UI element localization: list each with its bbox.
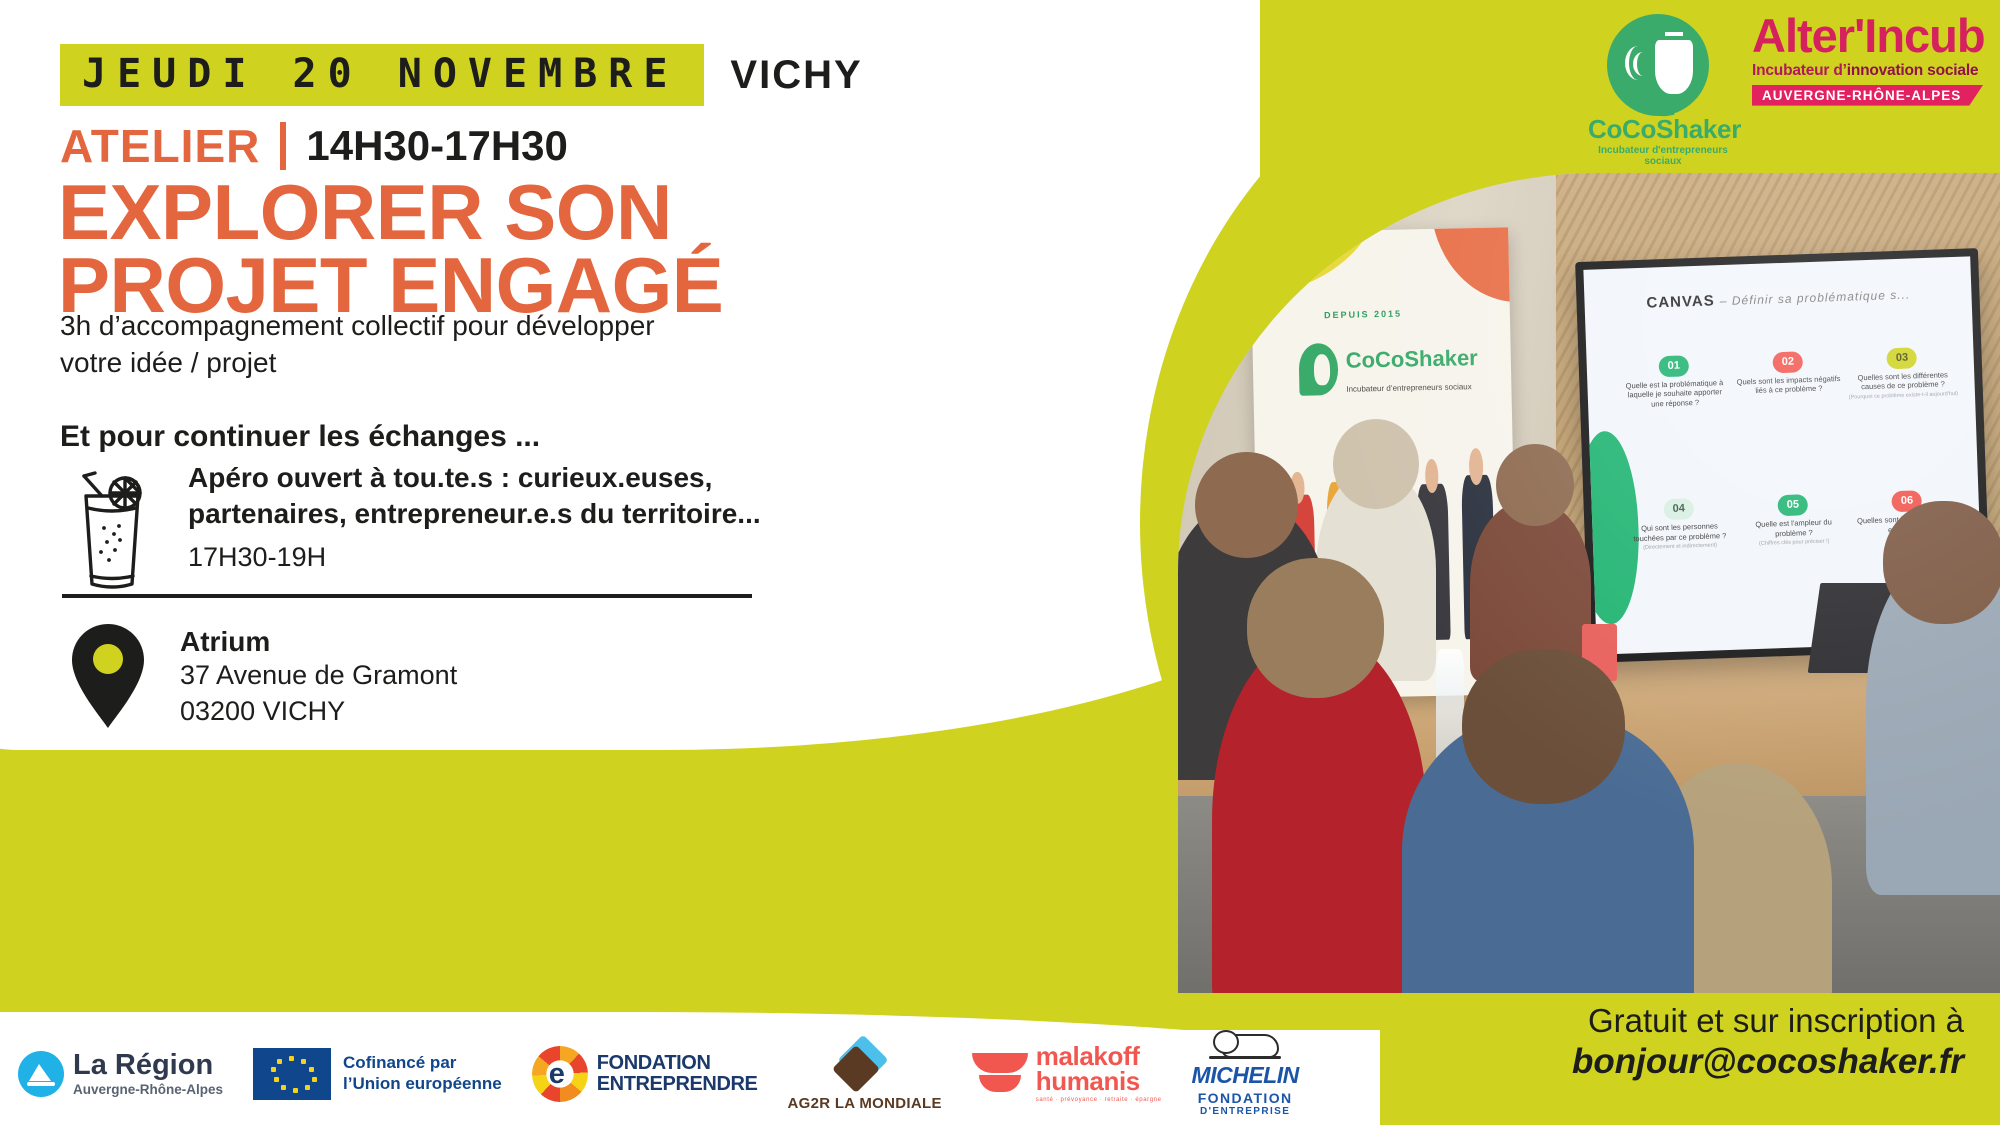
photo-person bbox=[1212, 632, 1427, 993]
canvas-question: Quels sont les impacts négatifs liés à c… bbox=[1733, 374, 1846, 397]
event-type-label: ATELIER bbox=[60, 123, 260, 169]
photo-wall bbox=[1178, 173, 2000, 681]
screen-canvas-grid: 01 Quelle est la problématique à laquell… bbox=[1617, 342, 1967, 639]
event-type-row: ATELIER 14H30-17H30 bbox=[60, 122, 568, 170]
page-title-line1: EXPLORER SON bbox=[58, 176, 723, 249]
canvas-cell: 02 Quels sont les impacts négatifs liés … bbox=[1732, 346, 1849, 491]
photo-person bbox=[1866, 550, 2000, 894]
workshop-photo: DEPUIS 2015 CoCoShaker Incubateur d’entr… bbox=[1178, 173, 2000, 993]
banner-depuis-label: DEPUIS 2015 bbox=[1324, 309, 1402, 321]
vertical-separator bbox=[280, 122, 286, 170]
event-description-line1: 3h d’accompagnement collectif pour dével… bbox=[60, 308, 655, 345]
screen-green-blob bbox=[1584, 430, 1643, 625]
mountain-circle-icon bbox=[18, 1051, 64, 1097]
canvas-number: 04 bbox=[1664, 499, 1695, 521]
partner-logo-la-region: La Région Auvergne-Rhône-Alpes bbox=[18, 1051, 223, 1097]
malakoff-arc-bottom bbox=[979, 1075, 1021, 1092]
banner-yellow-shape bbox=[1251, 228, 1381, 299]
apero-title: Apéro ouvert à tou.te.s : curieux.euses,… bbox=[188, 460, 761, 532]
canvas-number: 01 bbox=[1659, 355, 1690, 377]
event-description: 3h d’accompagnement collectif pour dével… bbox=[60, 308, 655, 382]
event-city: VICHY bbox=[730, 53, 862, 98]
michelin-line1: FONDATION bbox=[1192, 1090, 1299, 1106]
canvas-question: Quelle est l'ampleur du problème ? bbox=[1738, 517, 1851, 540]
banner-person bbox=[1371, 469, 1406, 642]
canvas-cell: 03 Quelles sont les différentes causes d… bbox=[1846, 342, 1963, 487]
canvas-number: 03 bbox=[1887, 347, 1918, 369]
fondation-letter-e: e bbox=[549, 1060, 565, 1089]
apero-title-line1: Apéro ouvert à tou.te.s : curieux.euses, bbox=[188, 460, 761, 496]
event-date: JEUDI 20 NOVEMBRE bbox=[60, 44, 704, 106]
screen-title: CANVAS – Définir sa problématique s... bbox=[1646, 285, 1910, 311]
canvas-question: Quelles sont les solutions déjà existant… bbox=[1852, 513, 1965, 536]
sun-e-icon: e bbox=[532, 1046, 588, 1102]
apero-hours: 17H30-19H bbox=[188, 542, 761, 573]
registration-note: Gratuit et sur inscription à bbox=[1572, 1002, 1964, 1040]
event-poster: DEPUIS 2015 CoCoShaker Incubateur d’entr… bbox=[0, 0, 2000, 1125]
cocoshaker-body bbox=[1651, 36, 1697, 98]
canvas-number: 06 bbox=[1892, 491, 1923, 513]
canvas-cell: 04 Qui sont les personnes touchées par c… bbox=[1622, 493, 1739, 638]
photo-laptop bbox=[1808, 583, 1941, 673]
venue-name: Atrium bbox=[180, 626, 457, 658]
photo-person-head bbox=[1333, 419, 1419, 509]
drink-glass-icon bbox=[62, 468, 162, 593]
photo-table bbox=[1178, 569, 2000, 875]
alterincub-tagline-bold: innovation sociale bbox=[1847, 62, 1979, 79]
registration-contact: Gratuit et sur inscription à bonjour@coc… bbox=[1572, 1002, 1964, 1082]
partner-logo-malakoff-humanis: malakoff humanis santé · prévoyance · re… bbox=[972, 1044, 1162, 1104]
after-event-heading: Et pour continuer les échanges ... bbox=[60, 420, 540, 454]
canvas-cell: 05 Quelle est l'ampleur du problème ? (C… bbox=[1737, 489, 1854, 634]
banner-cocoshaker-icon bbox=[1299, 344, 1339, 396]
banner-people-photo bbox=[1281, 434, 1497, 644]
canvas-hint: (Chiffres clés pour préciser !) bbox=[1738, 538, 1850, 548]
canvas-question: Qui sont les personnes touchées par ce p… bbox=[1623, 521, 1736, 544]
bibendum-head bbox=[1213, 1030, 1239, 1054]
canvas-hint: (Pourquoi ce problème existe-t-il aujour… bbox=[1847, 390, 1959, 400]
eu-line1: Cofinancé par bbox=[343, 1053, 502, 1073]
fondation-line2: ENTREPRENDRE bbox=[597, 1074, 758, 1095]
photo-person-head bbox=[1462, 649, 1625, 805]
partner-logos: La Région Auvergne-Rhône-Alpes Cofinancé… bbox=[18, 1030, 1299, 1117]
section-divider bbox=[62, 594, 752, 598]
contact-email[interactable]: bonjour@cocoshaker.fr bbox=[1572, 1042, 1964, 1082]
cocoshaker-tagline: Incubateur d'entrepreneurs sociaux bbox=[1588, 145, 1738, 167]
malakoff-line2: humanis bbox=[1036, 1069, 1162, 1094]
photo-person-head bbox=[1195, 452, 1298, 559]
eu-flag-icon bbox=[253, 1048, 331, 1100]
map-pin-icon bbox=[62, 618, 154, 733]
cocoshaker-shaker-icon bbox=[1607, 14, 1719, 114]
screen-title-text: CANVAS bbox=[1646, 292, 1715, 311]
alterincub-tagline-plain: Incubateur d’ bbox=[1752, 62, 1847, 79]
banner-person bbox=[1461, 475, 1496, 640]
apero-texts: Apéro ouvert à tou.te.s : curieux.euses,… bbox=[188, 460, 761, 573]
event-hours: 14H30-17H30 bbox=[306, 125, 568, 167]
ag2r-diamond-icon bbox=[837, 1036, 893, 1092]
date-row: JEUDI 20 NOVEMBRE VICHY bbox=[60, 44, 863, 106]
banner-cocoshaker-tagline: Incubateur d’entrepreneurs sociaux bbox=[1347, 383, 1473, 395]
brand-logos: CoCoShaker Incubateur d'entrepreneurs so… bbox=[1588, 14, 1992, 167]
banner-person bbox=[1282, 495, 1317, 644]
screen-content: CANVAS – Définir sa problématique s... 0… bbox=[1584, 256, 1984, 655]
eu-text: Cofinancé par l’Union européenne bbox=[343, 1053, 502, 1093]
la-region-name: La Région bbox=[73, 1051, 223, 1080]
banner-orange-shape bbox=[1430, 228, 1518, 304]
canvas-question: Quelle est la problématique à laquelle j… bbox=[1618, 378, 1731, 410]
screen-subtitle-text: – Définir sa problématique s... bbox=[1720, 287, 1911, 308]
canvas-number: 05 bbox=[1778, 495, 1809, 517]
photo-blob: DEPUIS 2015 CoCoShaker Incubateur d’entr… bbox=[1140, 18, 2000, 1028]
la-region-sub: Auvergne-Rhône-Alpes bbox=[73, 1082, 223, 1097]
photo-wood-panel bbox=[1556, 173, 2000, 665]
photo-person-head bbox=[1247, 558, 1385, 697]
photo-person-head bbox=[1883, 501, 2000, 624]
fondation-entreprendre-text: FONDATION ENTREPRENDRE bbox=[597, 1053, 758, 1095]
canvas-cell: 06 Quelles sont les solutions déjà exist… bbox=[1851, 485, 1968, 630]
alterincub-logo: Alter'Incub Incubateur d’innovation soci… bbox=[1752, 14, 1992, 106]
photo-floor bbox=[1178, 796, 2000, 993]
bibendum-base bbox=[1209, 1056, 1281, 1059]
photo-person bbox=[1642, 763, 1831, 993]
photo-cocoshaker-rollup-banner: DEPUIS 2015 CoCoShaker Incubateur d’entr… bbox=[1251, 228, 1519, 701]
canvas-number: 02 bbox=[1773, 351, 1804, 373]
malakoff-sub: santé · prévoyance · retraite · épargne bbox=[1036, 1097, 1162, 1103]
ag2r-name: AG2R LA MONDIALE bbox=[788, 1095, 942, 1112]
alterincub-tagline: Incubateur d’innovation sociale bbox=[1752, 62, 1992, 80]
event-description-line2: votre idée / projet bbox=[60, 345, 655, 382]
banner-person bbox=[1416, 484, 1451, 641]
canvas-hint: (Directement et indirectement) bbox=[1624, 542, 1736, 552]
photo-presentation-screen: CANVAS – Définir sa problématique s... 0… bbox=[1575, 248, 1992, 663]
venue-postal-city: 03200 VICHY bbox=[180, 694, 457, 730]
bibendum-icon bbox=[1205, 1030, 1285, 1064]
photo-person bbox=[1178, 501, 1333, 780]
photo-person bbox=[1316, 468, 1436, 681]
photo-person-head bbox=[1496, 444, 1573, 526]
apero-block: Apéro ouvert à tou.te.s : curieux.euses,… bbox=[62, 460, 761, 593]
photo-person bbox=[1470, 501, 1590, 681]
partner-logo-ag2r: AG2R LA MONDIALE bbox=[788, 1036, 942, 1112]
partner-logo-michelin: MICHELIN FONDATION D'ENTREPRISE bbox=[1192, 1030, 1299, 1117]
canvas-question: Quelles sont les différentes causes de c… bbox=[1847, 370, 1960, 393]
malakoff-arc-top bbox=[972, 1053, 1028, 1073]
michelin-line2: D'ENTREPRISE bbox=[1192, 1106, 1299, 1117]
apero-title-line2: partenaires, entrepreneur.e.s du territo… bbox=[188, 496, 761, 532]
canvas-cell: 01 Quelle est la problématique à laquell… bbox=[1617, 350, 1734, 495]
eu-line2: l’Union européenne bbox=[343, 1074, 502, 1094]
partner-logo-union-europeenne: Cofinancé par l’Union européenne bbox=[253, 1048, 502, 1100]
cocoshaker-logo: CoCoShaker Incubateur d'entrepreneurs so… bbox=[1588, 14, 1738, 167]
photo-cup bbox=[1582, 624, 1616, 681]
cocoshaker-wave bbox=[1633, 52, 1653, 76]
partner-logo-fondation-entreprendre: e FONDATION ENTREPRENDRE bbox=[532, 1046, 758, 1102]
alterincub-name: Alter'Incub bbox=[1752, 14, 1992, 59]
page-title: EXPLORER SON PROJET ENGAGÉ bbox=[58, 176, 723, 321]
venue-block: Atrium 37 Avenue de Gramont 03200 VICHY bbox=[62, 618, 457, 733]
alterincub-region-tag: AUVERGNE-RHÔNE-ALPES bbox=[1752, 85, 1983, 106]
fondation-line1: FONDATION bbox=[597, 1053, 758, 1074]
venue-street: 37 Avenue de Gramont bbox=[180, 658, 457, 694]
photo-person bbox=[1402, 714, 1694, 993]
banner-person bbox=[1327, 482, 1362, 643]
banner-cocoshaker-name: CoCoShaker bbox=[1346, 345, 1479, 374]
venue-texts: Atrium 37 Avenue de Gramont 03200 VICHY bbox=[180, 626, 457, 729]
michelin-name: MICHELIN bbox=[1192, 1064, 1299, 1087]
photo-water-bottle bbox=[1436, 649, 1464, 772]
cocoshaker-name: CoCoShaker bbox=[1588, 116, 1738, 142]
malakoff-smile-icon bbox=[972, 1051, 1028, 1097]
